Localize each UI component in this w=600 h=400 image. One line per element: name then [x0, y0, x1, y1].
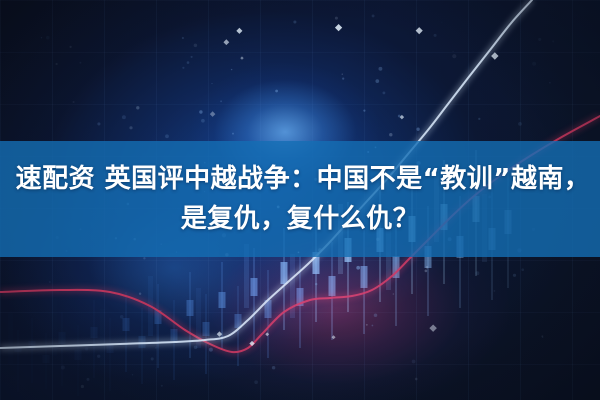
- candle-ghost: [196, 288, 201, 348]
- sparkle-dot: [342, 73, 343, 74]
- sparkle-dot: [41, 37, 42, 38]
- sparkle-dot: [374, 314, 378, 318]
- sparkle-diamond: [223, 39, 229, 45]
- sparkle-dot: [412, 360, 416, 364]
- sparkle-dot: [375, 79, 379, 83]
- candle-body: [281, 262, 288, 284]
- sparkle-dot: [254, 380, 258, 384]
- candle-body: [361, 266, 368, 288]
- sparkle-dot: [187, 61, 190, 64]
- sparkle-dot: [161, 385, 163, 387]
- sparkle-dot: [97, 122, 100, 125]
- sparkle-dot: [372, 14, 375, 17]
- candle-body: [187, 300, 194, 316]
- sparkle-dot: [61, 366, 65, 370]
- sparkle-dot: [441, 22, 442, 23]
- sparkle-diamond: [240, 56, 243, 59]
- sparkle-diamond: [249, 341, 254, 346]
- sparkle-dot: [85, 347, 88, 350]
- candle-body: [265, 300, 272, 318]
- sparkle-dot: [366, 324, 368, 326]
- sparkle-diamond: [236, 28, 242, 34]
- sparkle-dot: [363, 110, 365, 112]
- sparkle-dot: [87, 378, 90, 381]
- sparkle-dot: [191, 56, 193, 58]
- sparkle-dot: [383, 92, 386, 95]
- candle-body: [59, 332, 66, 344]
- candle-body: [393, 256, 400, 278]
- candle-body: [171, 329, 178, 341]
- sparkle-dot: [315, 283, 317, 285]
- sparkle-dot: [73, 101, 75, 103]
- sparkle-dot: [220, 100, 222, 102]
- sparkle-diamond: [332, 335, 336, 339]
- sparkle-dot: [415, 378, 418, 381]
- candle-body: [107, 343, 114, 353]
- candle-body: [155, 310, 162, 324]
- sparkle-dot: [136, 106, 139, 109]
- sparkle-dot: [69, 46, 71, 48]
- sparkle-dot: [513, 274, 516, 277]
- candle-body: [203, 322, 210, 336]
- sparkle-dot: [532, 62, 536, 66]
- sparkle-dot: [389, 133, 392, 136]
- sparkle-dot: [378, 67, 382, 71]
- sparkle-dot: [398, 115, 401, 118]
- candle-body: [29, 341, 36, 349]
- sparkle-diamond: [400, 115, 404, 119]
- candle-body: [75, 350, 82, 360]
- sparkle-dot: [143, 257, 145, 259]
- sparkle-dot: [393, 293, 395, 295]
- sparkle-diamond: [217, 331, 222, 336]
- banner-image: 速配资 英国评中越战争：中国不是“教训”越南， 是复仇，复什么仇？: [0, 0, 600, 400]
- candle-body: [329, 276, 336, 296]
- candle-ghost: [290, 254, 295, 318]
- candle-body: [15, 347, 22, 352]
- sparkle-dot: [453, 51, 454, 52]
- sparkle-dot: [552, 40, 554, 42]
- sparkle-dot: [475, 271, 479, 275]
- sparkle-diamond: [429, 324, 436, 331]
- sparkle-dot: [165, 134, 169, 138]
- sparkle-dot: [372, 325, 374, 327]
- sparkle-dot: [211, 83, 212, 84]
- title-line-1: 速配资 英国评中越战争：中国不是“教训”越南，: [10, 159, 591, 199]
- sparkle-dot: [518, 122, 522, 126]
- sparkle-dot: [478, 118, 480, 120]
- sparkle-dot: [293, 20, 296, 23]
- sparkle-dot: [521, 268, 524, 271]
- sparkle-diamond: [416, 27, 423, 34]
- sparkle-dot: [182, 37, 184, 39]
- title-line-2: 是复仇，复什么仇？: [181, 199, 420, 239]
- sparkle-dot: [132, 374, 133, 375]
- sparkle-dot: [46, 36, 50, 40]
- sparkle-dot: [272, 366, 275, 369]
- candle-ghost: [148, 276, 153, 336]
- sparkle-dot: [122, 115, 126, 119]
- sparkle-dot: [231, 69, 232, 70]
- candle-body: [43, 355, 50, 363]
- sparkle-dot: [151, 357, 154, 360]
- sparkle-dot: [434, 34, 437, 37]
- candle-body: [91, 327, 98, 338]
- sparkle-dot: [97, 355, 100, 358]
- sparkle-dot: [542, 337, 544, 339]
- candle-ghost: [52, 298, 57, 356]
- sparkle-dot: [55, 63, 57, 65]
- candle-ghost: [8, 313, 13, 364]
- sparkle-dot: [194, 44, 197, 47]
- sparkle-dot: [155, 347, 157, 349]
- candle-body: [123, 318, 130, 331]
- sparkle-dot: [335, 17, 338, 20]
- sparkle-diamond: [335, 24, 342, 31]
- sparkle-dot: [139, 293, 141, 295]
- sparkle-dot: [425, 270, 428, 273]
- candle-body: [235, 314, 242, 328]
- sparkle-dot: [275, 90, 278, 93]
- candle-ghost: [100, 309, 105, 365]
- sparkle-dot: [81, 385, 84, 388]
- sparkle-dot: [49, 281, 51, 283]
- title-banner: 速配资 英国评中越战争：中国不是“教训”越南， 是复仇，复什么仇？: [0, 141, 600, 257]
- candle-body: [219, 292, 226, 308]
- candle-body: [297, 288, 304, 306]
- sparkle-dot: [356, 266, 360, 270]
- sparkle-dot: [201, 119, 205, 123]
- sparkle-dot: [209, 348, 213, 352]
- sparkle-dot: [452, 54, 456, 58]
- sparkle-dot: [549, 82, 551, 84]
- sparkle-dot: [120, 315, 124, 319]
- sparkle-dot: [182, 67, 184, 69]
- sparkle-dot: [493, 290, 495, 292]
- sparkle-dot: [199, 110, 202, 113]
- sparkle-dot: [79, 62, 81, 64]
- candle-body: [251, 278, 258, 296]
- sparkle-dot: [538, 38, 541, 41]
- sparkle-diamond: [210, 111, 216, 117]
- sparkle-dot: [129, 126, 132, 129]
- sparkle-dot: [194, 346, 198, 350]
- candle-body: [139, 336, 146, 348]
- sparkle-dot: [541, 335, 543, 337]
- sparkle-dot: [342, 78, 344, 80]
- sparkle-dot: [416, 128, 419, 131]
- sparkle-dot: [232, 133, 234, 135]
- sparkle-diamond: [491, 52, 498, 59]
- sparkle-diamond: [265, 332, 269, 336]
- sparkle-dot: [426, 266, 429, 269]
